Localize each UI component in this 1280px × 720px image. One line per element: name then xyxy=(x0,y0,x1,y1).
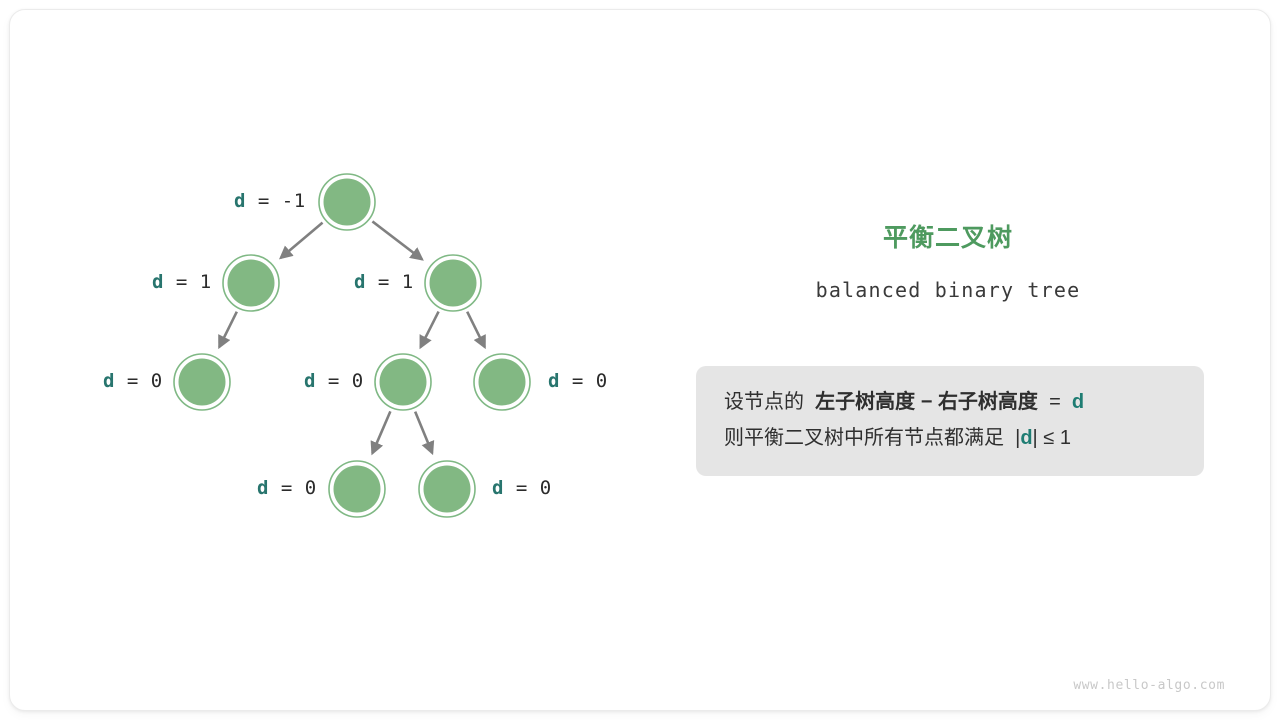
tree-edge xyxy=(219,312,237,347)
balance-variable-d: d xyxy=(354,271,366,293)
node-balance-factor-label: d = 0 xyxy=(492,477,552,499)
info-line-1: 设节点的 左子树高度 − 右子树高度 = d xyxy=(724,384,1176,420)
tree-node xyxy=(329,461,385,517)
diagram-canvas: d = -1d = 1d = 1d = 0d = 0d = 0d = 0d = … xyxy=(0,0,1280,720)
balance-value: = 1 xyxy=(366,271,414,293)
info-line1-equals: = xyxy=(1049,391,1061,413)
definition-panel: 平衡二叉树 balanced binary tree xyxy=(696,220,1200,304)
balance-variable-d: d xyxy=(304,370,316,392)
tree-edge xyxy=(467,312,485,347)
node-balance-factor-label: d = 1 xyxy=(354,271,414,293)
info-line1-right-height: 右子树高度 xyxy=(938,391,1038,413)
tree-node-disc xyxy=(179,359,226,406)
node-balance-factor-label: d = 1 xyxy=(152,271,212,293)
node-balance-factor-label: d = 0 xyxy=(548,370,608,392)
info-line1-left-height: 左子树高度 xyxy=(815,391,915,413)
node-balance-factor-label: d = 0 xyxy=(103,370,163,392)
balance-variable-d: d xyxy=(492,477,504,499)
balance-variable-d: d xyxy=(234,190,246,212)
tree-node xyxy=(425,255,481,311)
info-line2-variable-d: d xyxy=(1020,427,1032,449)
balance-variable-d: d xyxy=(257,477,269,499)
node-balance-factor-label: d = -1 xyxy=(234,190,306,212)
balance-value: = 0 xyxy=(504,477,552,499)
panel-title: 平衡二叉树 xyxy=(696,220,1200,256)
info-line2-bar-close: | xyxy=(1033,427,1038,449)
definition-info-box: 设节点的 左子树高度 − 右子树高度 = d 则平衡二叉树中所有节点都满足 |d… xyxy=(696,366,1204,476)
info-line2-relation: ≤ 1 xyxy=(1043,427,1071,449)
info-line2-prefix: 则平衡二叉树中所有节点都满足 xyxy=(724,427,1004,449)
tree-node xyxy=(375,354,431,410)
watermark: www.hello-algo.com xyxy=(1073,678,1225,693)
tree-node xyxy=(419,461,475,517)
tree-nodes xyxy=(174,174,530,517)
tree-node xyxy=(223,255,279,311)
tree-edge xyxy=(281,223,323,258)
info-line-2: 则平衡二叉树中所有节点都满足 |d| ≤ 1 xyxy=(724,420,1176,456)
tree-node-disc xyxy=(430,260,477,307)
info-line1-prefix: 设节点的 xyxy=(724,391,804,413)
tree-edge xyxy=(372,221,422,259)
tree-node-disc xyxy=(479,359,526,406)
balance-value: = -1 xyxy=(246,190,306,212)
balance-variable-d: d xyxy=(103,370,115,392)
info-line1-variable-d: d xyxy=(1072,391,1084,413)
tree-node xyxy=(174,354,230,410)
panel-subtitle: balanced binary tree xyxy=(696,276,1200,304)
balance-value: = 0 xyxy=(269,477,317,499)
tree-node-disc xyxy=(424,466,471,513)
tree-edge xyxy=(421,312,439,348)
balance-value: = 0 xyxy=(316,370,364,392)
tree-edge xyxy=(372,411,390,453)
balance-variable-d: d xyxy=(152,271,164,293)
node-balance-factor-label: d = 0 xyxy=(257,477,317,499)
tree-node-disc xyxy=(334,466,381,513)
info-line1-minus: − xyxy=(921,391,933,413)
balance-value: = 0 xyxy=(115,370,163,392)
tree-node-disc xyxy=(228,260,275,307)
tree-node-disc xyxy=(324,179,371,226)
tree-node-disc xyxy=(380,359,427,406)
tree-node xyxy=(474,354,530,410)
binary-tree-diagram xyxy=(0,0,700,720)
tree-node xyxy=(319,174,375,230)
balance-value: = 0 xyxy=(560,370,608,392)
balance-variable-d: d xyxy=(548,370,560,392)
node-balance-factor-label: d = 0 xyxy=(304,370,364,392)
balance-value: = 1 xyxy=(164,271,212,293)
tree-edge xyxy=(415,412,432,453)
